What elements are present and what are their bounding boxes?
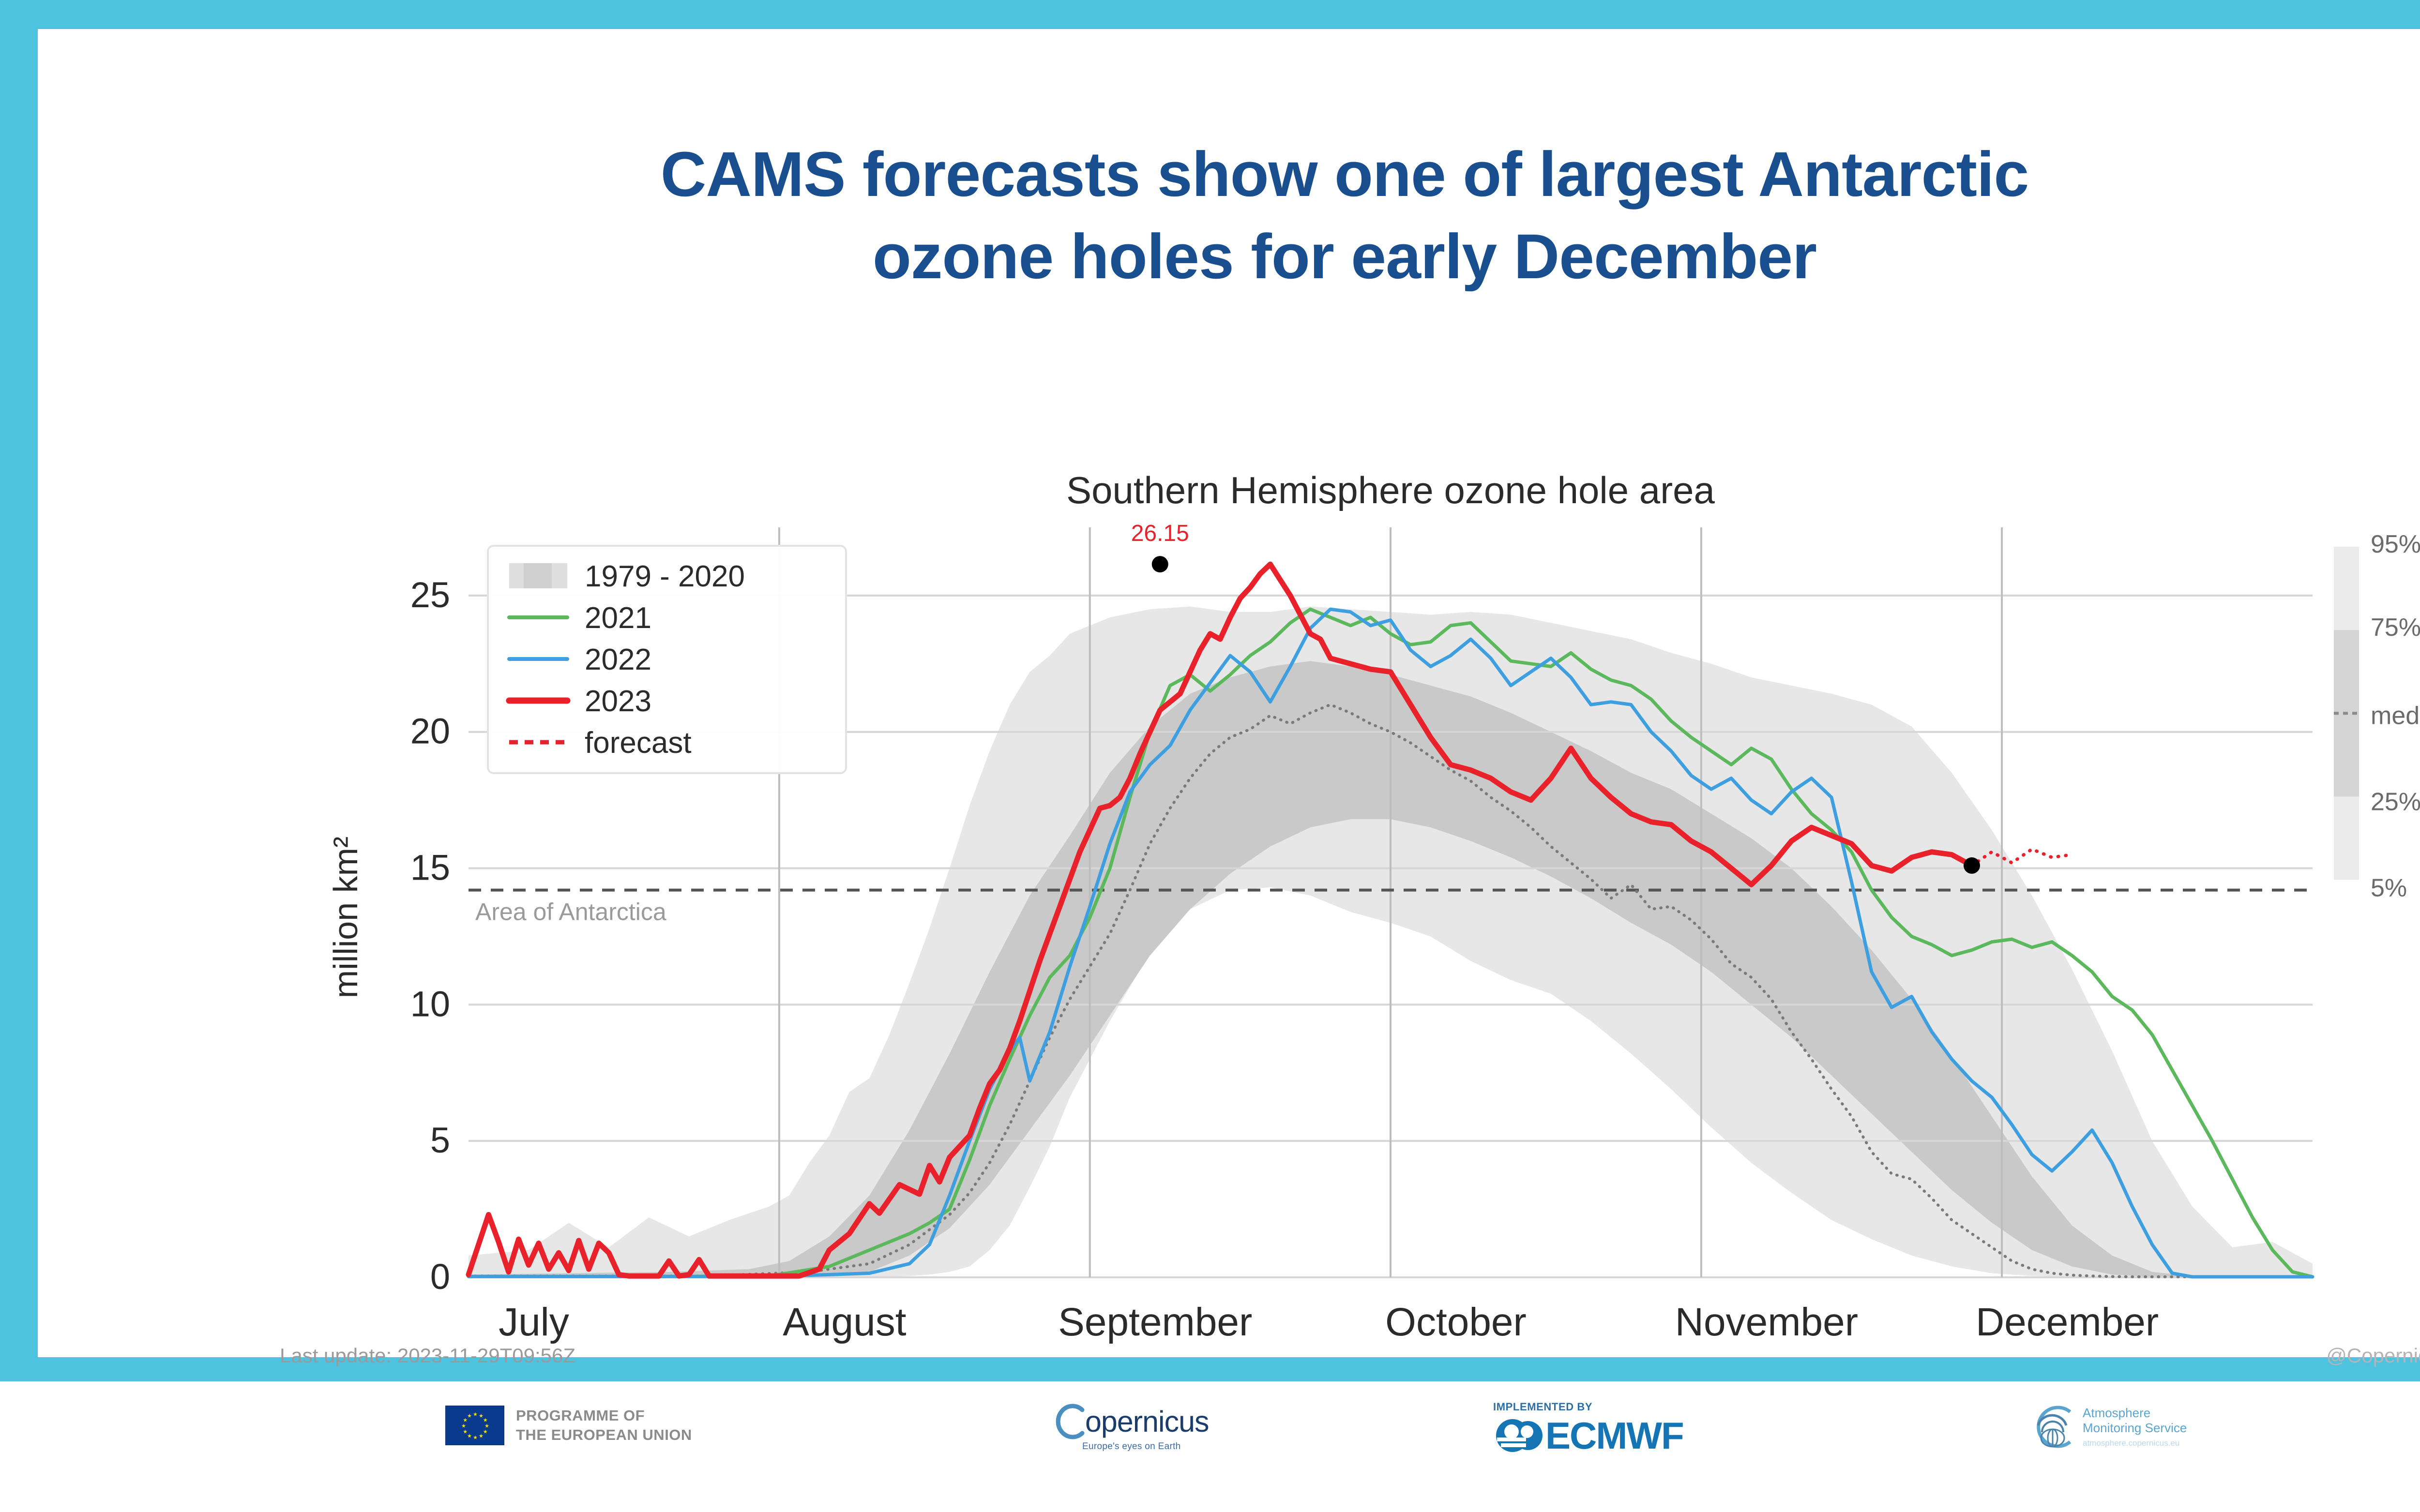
x-tick-label-4: November	[1675, 1300, 1858, 1344]
legend-label-2: 2022	[585, 643, 651, 676]
ozone-hole-chart: Southern Hemisphere ozone hole area05101…	[246, 464, 2420, 1374]
legend-swatch-band-inner	[524, 563, 552, 588]
cams-line-2: Monitoring Service	[2083, 1421, 2187, 1436]
y-tick-label-1: 5	[430, 1120, 450, 1160]
eu-star-icon	[483, 1430, 487, 1434]
ecmwf-wordmark: ECMWF	[1545, 1418, 1683, 1453]
eu-star-icon	[462, 1424, 466, 1428]
eu-logo: PROGRAMME OF THE EUROPEAN UNION	[445, 1406, 692, 1445]
legend-label-4: forecast	[585, 726, 692, 760]
copernicus-logo: opernicus Europe's eyes on Earth	[1055, 1403, 1209, 1452]
last-update-text: Last update: 2023-11-29T09:56Z	[280, 1344, 575, 1367]
percentile-label-25%: 25%	[2371, 788, 2420, 816]
x-tick-label-0: July	[499, 1300, 569, 1344]
cams-url: atmosphere.copernicus.eu	[2083, 1438, 2187, 1448]
percentile-label-5%: 5%	[2371, 874, 2407, 902]
implemented-by-label: IMPLEMENTED BY	[1493, 1401, 1683, 1413]
title-line-2: ozone holes for early December	[212, 215, 2420, 298]
legend-label-0: 1979 - 2020	[585, 560, 745, 593]
eu-star-icon	[468, 1414, 472, 1418]
slide-frame: CAMS forecasts show one of largest Antar…	[0, 0, 2420, 1512]
analysis-end-marker	[1964, 857, 1980, 874]
y-tick-label-2: 10	[410, 984, 450, 1024]
x-tick-label-5: December	[1976, 1300, 2159, 1344]
percentile-label-95%: 95%	[2371, 530, 2420, 558]
eu-star-icon	[473, 1412, 478, 1417]
legend-label-1: 2021	[585, 601, 651, 635]
cams-line-1: Atmosphere	[2083, 1406, 2187, 1421]
eu-star-icon	[463, 1418, 468, 1422]
x-tick-label-2: September	[1058, 1300, 1252, 1344]
european-union-flag-icon	[445, 1406, 504, 1445]
legend-label-3: 2023	[585, 685, 651, 718]
y-tick-label-0: 0	[430, 1257, 450, 1297]
antarctica-label: Area of Antarctica	[475, 898, 666, 926]
y-tick-label-4: 20	[410, 711, 450, 751]
credit-text: @CopernicusECMWF	[2326, 1344, 2420, 1367]
cams-globe-icon	[2026, 1403, 2076, 1451]
ecmwf-logo: IMPLEMENTED BY ECMWF	[1493, 1401, 1683, 1454]
percentile-label-median: median	[2371, 702, 2420, 730]
chart-title: Southern Hemisphere ozone hole area	[1066, 469, 1715, 511]
ecmwf-symbol-icon	[1493, 1417, 1545, 1454]
eu-star-icon	[485, 1424, 489, 1428]
eu-star-icon	[479, 1414, 484, 1418]
y-tick-label-5: 25	[410, 575, 450, 615]
page-title: CAMS forecasts show one of largest Antar…	[212, 133, 2420, 298]
copernicus-wordmark: opernicus	[1085, 1407, 1209, 1437]
cams-logo: Atmosphere Monitoring Service atmosphere…	[2026, 1403, 2187, 1451]
chart-svg: Southern Hemisphere ozone hole area05101…	[246, 464, 2420, 1374]
eu-logo-line-2: THE EUROPEAN UNION	[516, 1425, 692, 1445]
eu-star-icon	[473, 1436, 478, 1440]
y-tick-label-3: 15	[410, 848, 450, 888]
eu-star-icon	[463, 1430, 468, 1434]
eu-logo-line-1: PROGRAMME OF	[516, 1406, 692, 1425]
eu-logo-text: PROGRAMME OF THE EUROPEAN UNION	[516, 1406, 692, 1445]
eu-star-icon	[483, 1418, 487, 1422]
slide-content-card: CAMS forecasts show one of largest Antar…	[38, 29, 2420, 1357]
y-axis-label: million km²	[327, 837, 364, 998]
x-tick-label-1: August	[783, 1300, 907, 1344]
copernicus-tagline: Europe's eyes on Earth	[1082, 1441, 1209, 1452]
percentile-label-75%: 75%	[2371, 614, 2420, 642]
x-tick-label-3: October	[1385, 1300, 1527, 1344]
copernicus-arc-icon	[1055, 1403, 1085, 1440]
eu-star-icon	[468, 1434, 472, 1438]
peak-value-label: 26.15	[1131, 521, 1189, 546]
eu-star-icon	[479, 1434, 484, 1438]
peak-marker	[1152, 556, 1168, 572]
title-line-1: CAMS forecasts show one of largest Antar…	[212, 133, 2420, 215]
